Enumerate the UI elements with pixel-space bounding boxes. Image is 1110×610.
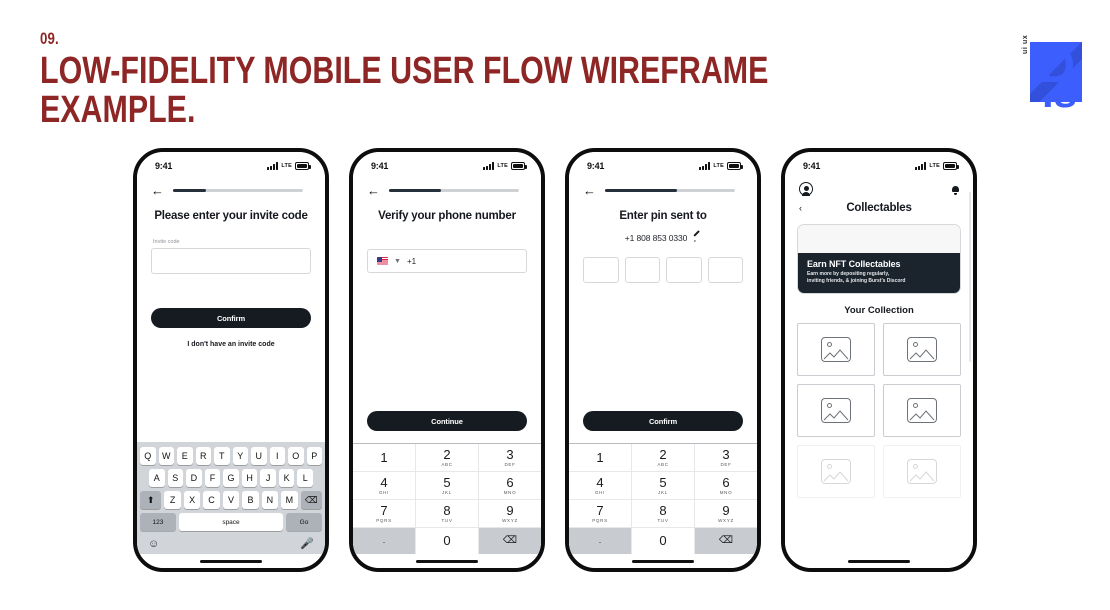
status-time: 9:41: [371, 161, 388, 171]
nav-bar: ←: [137, 176, 325, 199]
keypad-key-4[interactable]: 4 GHI: [569, 472, 632, 500]
collection-item[interactable]: [883, 384, 961, 437]
space-key[interactable]: space: [179, 513, 283, 531]
collection-item[interactable]: [883, 323, 961, 376]
keypad-key-2[interactable]: 2 ABC: [416, 444, 479, 472]
keypad-key-3[interactable]: 3 DEF: [479, 444, 541, 472]
keypad-sub: DEF: [720, 463, 731, 468]
battery-icon: [295, 162, 309, 170]
pencil-edit-icon[interactable]: [693, 234, 701, 242]
slide-header: 09. LOW-FIDELITY MOBILE USER FLOW WIREFR…: [40, 30, 950, 130]
screen-collectables: 9:41 LTE ‹ Collectables Earn NFT Collect…: [785, 152, 973, 568]
logo-uiux-label: ui ux: [1022, 35, 1029, 54]
key-T[interactable]: T: [214, 447, 230, 465]
keypad-num: 1: [596, 451, 603, 465]
collection-item[interactable]: [797, 323, 875, 376]
keyboard-footer: ☺ 🎤: [140, 535, 322, 551]
keypad-row-3: 7 PQRS 8 TUV 9 WXYZ: [569, 500, 757, 528]
keypad-sub: GHI: [595, 491, 605, 496]
continue-button[interactable]: Continue: [367, 411, 527, 431]
phone-mockup-collectables: 9:41 LTE ‹ Collectables Earn NFT Collect…: [781, 148, 977, 572]
mountain-shape: [909, 348, 935, 360]
progress-bar: [389, 189, 519, 192]
chevron-down-icon[interactable]: ▼: [394, 258, 401, 265]
mountain-shape: [909, 409, 935, 421]
keypad-row-4: . 0 ⌫: [353, 528, 541, 554]
keypad-num: .: [599, 536, 602, 545]
backspace-icon[interactable]: ⌫: [695, 528, 757, 554]
phone-mockup-invite-code: 9:41 LTE ← Please enter your invite code…: [133, 148, 329, 572]
signal-bars-icon: [483, 162, 494, 170]
pin-input-row[interactable]: [583, 257, 743, 283]
key-I[interactable]: I: [270, 447, 286, 465]
back-arrow-icon[interactable]: ←: [583, 184, 595, 197]
keypad-sub: WXYZ: [502, 519, 518, 524]
nav-bar: ←: [353, 176, 541, 199]
key-N[interactable]: N: [262, 491, 278, 509]
keypad-num: 8: [443, 504, 450, 518]
signal-bars-icon: [699, 162, 710, 170]
keypad-sub: TUV: [657, 519, 668, 524]
keypad-num: 8: [659, 504, 666, 518]
key-E[interactable]: E: [177, 447, 193, 465]
keypad-key-3[interactable]: 3 DEF: [695, 444, 757, 472]
keypad-num: 0: [659, 534, 666, 548]
keypad-row-1: 1 2 ABC 3 DEF: [569, 444, 757, 472]
phone-mockup-verify-phone: 9:41 LTE ← Verify your phone number ▼ +1: [349, 148, 545, 572]
image-placeholder-icon: [821, 398, 851, 423]
screen-heading: Enter pin sent to: [583, 209, 743, 223]
battery-icon: [727, 162, 741, 170]
screen-heading: Please enter your invite code: [151, 209, 311, 223]
keypad-key-0[interactable]: 0: [416, 528, 479, 554]
confirm-button[interactable]: Confirm: [151, 308, 311, 328]
keypad-sub: JKL: [442, 491, 452, 496]
keypad-num: 6: [722, 476, 729, 490]
collection-item[interactable]: [883, 445, 961, 498]
promo-card[interactable]: Earn NFT Collectables Earn more by depos…: [797, 224, 961, 294]
key-P[interactable]: P: [307, 447, 323, 465]
keypad-key-9[interactable]: 9 WXYZ: [695, 500, 757, 528]
keypad-key-8[interactable]: 8 TUV: [632, 500, 695, 528]
your-collection-title: Your Collection: [785, 305, 973, 316]
key-Z[interactable]: Z: [164, 491, 180, 509]
status-bar: 9:41 LTE: [137, 152, 325, 176]
mountain-shape: [909, 470, 935, 482]
promo-text-area: Earn NFT Collectables Earn more by depos…: [798, 253, 960, 294]
promo-image-area: [798, 225, 960, 253]
page-title: LOW-FIDELITY MOBILE USER FLOW WIREFRAME …: [40, 52, 768, 130]
keypad-key-8[interactable]: 8 TUV: [416, 500, 479, 528]
keypad-row-4: . 0 ⌫: [569, 528, 757, 554]
keypad-key-dot[interactable]: .: [569, 528, 632, 554]
home-indicator: [569, 554, 757, 568]
signal-bars-icon: [267, 162, 278, 170]
collection-item[interactable]: [797, 384, 875, 437]
emoji-smiley-icon[interactable]: ☺: [148, 539, 159, 550]
keypad-row-2: 4 GHI 5 JKL 6 MNO: [353, 472, 541, 500]
keypad-sub: MNO: [720, 491, 733, 496]
key-O[interactable]: O: [288, 447, 304, 465]
nav-bar: ←: [569, 176, 757, 199]
keypad-sub: GHI: [379, 491, 389, 496]
keypad-key-1[interactable]: 1: [569, 444, 632, 472]
keypad-key-1[interactable]: 1: [353, 444, 416, 472]
screen-heading: Verify your phone number: [367, 209, 527, 223]
wireframe-phone-row: 9:41 LTE ← Please enter your invite code…: [0, 148, 1110, 576]
screen-invite-code: 9:41 LTE ← Please enter your invite code…: [137, 152, 325, 568]
keypad-sub: JKL: [658, 491, 668, 496]
numbers-key[interactable]: 123: [140, 513, 176, 531]
keypad-sub: ABC: [657, 463, 668, 468]
shift-arrow-icon[interactable]: ⬆: [140, 491, 161, 509]
confirm-button[interactable]: Confirm: [583, 411, 743, 431]
keypad-sub: TUV: [441, 519, 452, 524]
keypad-key-dot[interactable]: .: [353, 528, 416, 554]
promo-line-1: Earn more by depositing regularly,: [807, 271, 951, 279]
keypad-num: 1: [380, 451, 387, 465]
network-label: LTE: [497, 163, 508, 169]
brand-logo: ui ux D .s: [1014, 38, 1088, 110]
promo-heading: Earn NFT Collectables: [807, 259, 951, 269]
keypad-row-1: 1 2 ABC 3 DEF: [353, 444, 541, 472]
key-F[interactable]: F: [205, 469, 221, 487]
image-placeholder-icon: [907, 459, 937, 484]
image-placeholder-icon: [907, 398, 937, 423]
network-label: LTE: [929, 163, 940, 169]
invite-code-label: Invite code: [153, 239, 311, 245]
status-time: 9:41: [587, 161, 604, 171]
pin-box-2[interactable]: [625, 257, 661, 283]
battery-icon: [943, 162, 957, 170]
screen-enter-pin: 9:41 LTE ← Enter pin sent to +1 808 853 …: [569, 152, 757, 568]
page-header: ‹ Collectables: [785, 196, 973, 214]
key-H[interactable]: H: [242, 469, 258, 487]
keypad-key-7[interactable]: 7 PQRS: [353, 500, 416, 528]
backspace-icon[interactable]: ⌫: [301, 491, 322, 509]
keypad-sub: DEF: [504, 463, 515, 468]
key-X[interactable]: X: [184, 491, 200, 509]
keyboard-row-4: 123 space Go: [140, 513, 322, 531]
keypad-num: 5: [659, 476, 666, 490]
key-L[interactable]: L: [297, 469, 313, 487]
keypad-num: .: [383, 536, 386, 545]
keyboard-row-3: ⬆ Z X C V B N M ⌫: [140, 491, 322, 509]
signal-bars-icon: [915, 162, 926, 170]
home-indicator: [353, 554, 541, 568]
key-J[interactable]: J: [260, 469, 276, 487]
keypad-num: 0: [443, 534, 450, 548]
keypad-num: 4: [380, 476, 387, 490]
network-label: LTE: [281, 163, 292, 169]
key-Y[interactable]: Y: [233, 447, 249, 465]
backspace-icon[interactable]: ⌫: [479, 528, 541, 554]
slide-number: 09.: [40, 30, 750, 49]
status-bar: 9:41 LTE: [353, 152, 541, 176]
status-bar: 9:41 LTE: [785, 152, 973, 176]
invite-code-input[interactable]: [151, 248, 311, 274]
progress-bar: [605, 189, 735, 192]
key-D[interactable]: D: [186, 469, 202, 487]
keyboard-row-2: A S D F G H J K L: [140, 469, 322, 487]
keypad-num: 3: [506, 448, 513, 462]
keypad-num: 9: [722, 504, 729, 518]
phone-number-value: +1 808 853 0330: [625, 233, 688, 243]
home-indicator: [137, 554, 325, 568]
key-V[interactable]: V: [223, 491, 239, 509]
key-Q[interactable]: Q: [140, 447, 156, 465]
numeric-keypad[interactable]: 1 2 ABC 3 DEF 4 GHI: [353, 443, 541, 554]
qwerty-keyboard[interactable]: Q W E R T Y U I O P A S D F G H: [137, 442, 325, 554]
us-flag-icon: [377, 257, 388, 265]
key-U[interactable]: U: [251, 447, 267, 465]
key-M[interactable]: M: [281, 491, 297, 509]
keypad-key-4[interactable]: 4 GHI: [353, 472, 416, 500]
user-avatar-icon[interactable]: [799, 182, 813, 196]
keypad-key-7[interactable]: 7 PQRS: [569, 500, 632, 528]
microphone-icon[interactable]: 🎤: [300, 539, 314, 550]
keypad-key-9[interactable]: 9 WXYZ: [479, 500, 541, 528]
collection-item[interactable]: [797, 445, 875, 498]
keypad-key-5[interactable]: 5 JKL: [632, 472, 695, 500]
mountain-shape: [823, 409, 849, 421]
keypad-num: 7: [596, 504, 603, 518]
country-code-value: +1: [407, 257, 416, 266]
phone-number-row: +1 808 853 0330: [583, 233, 743, 243]
keypad-num: 9: [506, 504, 513, 518]
status-time: 9:41: [803, 161, 820, 171]
keypad-sub: MNO: [504, 491, 517, 496]
pin-box-4[interactable]: [708, 257, 744, 283]
network-label: LTE: [713, 163, 724, 169]
key-R[interactable]: R: [196, 447, 212, 465]
phone-mockup-enter-pin: 9:41 LTE ← Enter pin sent to +1 808 853 …: [565, 148, 761, 572]
notification-bell-icon[interactable]: [952, 185, 959, 193]
app-top-bar: [785, 176, 973, 196]
pin-box-3[interactable]: [666, 257, 702, 283]
keypad-key-6[interactable]: 6 MNO: [695, 472, 757, 500]
keypad-key-2[interactable]: 2 ABC: [632, 444, 695, 472]
keypad-sub: ABC: [441, 463, 452, 468]
scrollbar[interactable]: [969, 192, 971, 362]
status-time: 9:41: [155, 161, 172, 171]
keypad-key-0[interactable]: 0: [632, 528, 695, 554]
mountain-shape: [823, 470, 849, 482]
back-arrow-icon[interactable]: ←: [151, 184, 163, 197]
keypad-num: 3: [722, 448, 729, 462]
keypad-row-3: 7 PQRS 8 TUV 9 WXYZ: [353, 500, 541, 528]
keypad-num: 6: [506, 476, 513, 490]
keypad-num: 2: [443, 448, 450, 462]
back-arrow-icon[interactable]: ←: [367, 184, 379, 197]
keypad-num: 2: [659, 448, 666, 462]
key-S[interactable]: S: [168, 469, 184, 487]
key-W[interactable]: W: [159, 447, 175, 465]
key-K[interactable]: K: [279, 469, 295, 487]
keypad-sub: PQRS: [376, 519, 392, 524]
key-C[interactable]: C: [203, 491, 219, 509]
keypad-row-2: 4 GHI 5 JKL 6 MNO: [569, 472, 757, 500]
mountain-shape: [823, 348, 849, 360]
pin-box-1[interactable]: [583, 257, 619, 283]
home-indicator: [785, 554, 973, 568]
key-B[interactable]: B: [242, 491, 258, 509]
battery-icon: [511, 162, 525, 170]
progress-bar: [173, 189, 303, 192]
key-G[interactable]: G: [223, 469, 239, 487]
keypad-num: 5: [443, 476, 450, 490]
logo-dot-s: .s: [1042, 72, 1077, 114]
status-bar: 9:41 LTE: [569, 152, 757, 176]
keyboard-row-1: Q W E R T Y U I O P: [140, 447, 322, 465]
numeric-keypad[interactable]: 1 2 ABC 3 DEF 4 GHI: [569, 443, 757, 554]
keypad-sub: WXYZ: [718, 519, 734, 524]
image-placeholder-icon: [821, 459, 851, 484]
no-invite-code-link[interactable]: I don't have an invite code: [151, 341, 311, 348]
promo-line-2: inviting friends, & joining Burst's Disc…: [807, 278, 951, 286]
image-placeholder-icon: [821, 337, 851, 362]
key-A[interactable]: A: [149, 469, 165, 487]
collection-grid: [785, 323, 973, 498]
keypad-num: 7: [380, 504, 387, 518]
country-code-field[interactable]: ▼ +1: [367, 249, 527, 273]
keypad-sub: PQRS: [592, 519, 608, 524]
screen-verify-phone: 9:41 LTE ← Verify your phone number ▼ +1: [353, 152, 541, 568]
keypad-num: 4: [596, 476, 603, 490]
keypad-key-5[interactable]: 5 JKL: [416, 472, 479, 500]
go-key[interactable]: Go: [286, 513, 322, 531]
collectables-title: Collectables: [799, 202, 959, 214]
image-placeholder-icon: [907, 337, 937, 362]
keypad-key-6[interactable]: 6 MNO: [479, 472, 541, 500]
